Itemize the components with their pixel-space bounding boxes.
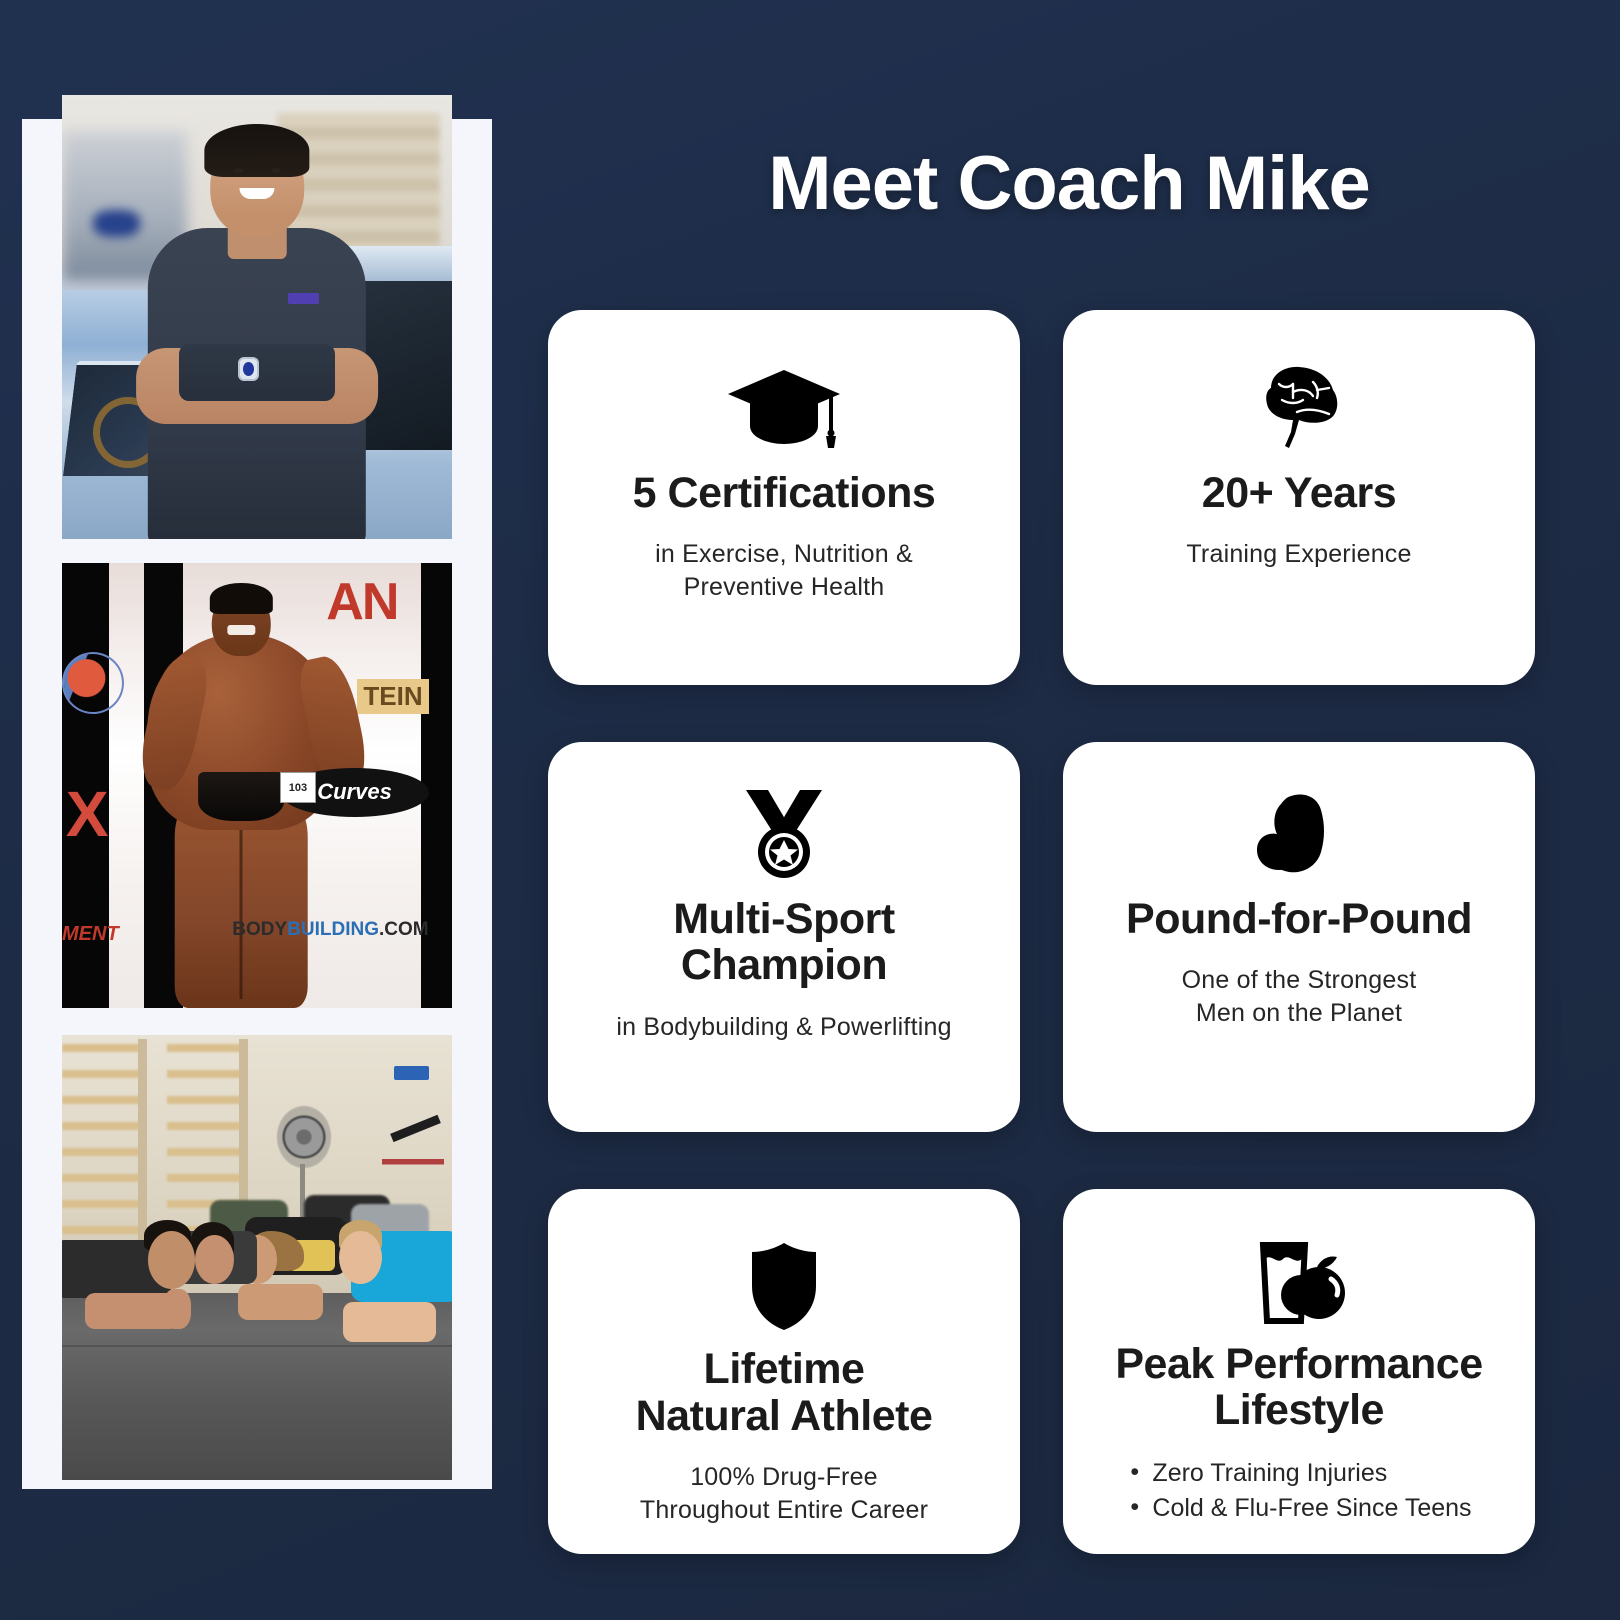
card-experience[interactable]: 20+ Years Training Experience xyxy=(1063,310,1535,685)
bodybuilding-stage-photo: AN TEIN X MENT Curves 103 BODYBUILDING.C… xyxy=(62,563,452,1008)
photo3-gym-fan xyxy=(277,1106,332,1168)
coach-portrait-by-car-photo xyxy=(62,95,452,539)
photo1-person-eye-right xyxy=(271,168,281,173)
card-subtitle: Training Experience xyxy=(1186,538,1411,571)
photo3-person-2-head xyxy=(195,1235,234,1284)
card-title: Lifetime Natural Athlete xyxy=(636,1346,933,1439)
photo3-person-3-forearm xyxy=(238,1284,324,1320)
photo2-athlete-smile xyxy=(228,625,255,635)
card-title: Peak Performance Lifestyle xyxy=(1115,1341,1482,1434)
card-pound-for-pound[interactable]: Pound-for-Pound One of the Strongest Men… xyxy=(1063,742,1535,1132)
list-item: Zero Training Injuries xyxy=(1126,1456,1471,1492)
water-glass-apple-icon xyxy=(1247,1239,1351,1327)
photo2-competitor-number: 103 xyxy=(280,772,315,803)
card-subtitle: One of the Strongest Men on the Planet xyxy=(1182,964,1417,1029)
photo1-shirt-logo xyxy=(288,293,319,305)
photo3-wall-bars-left xyxy=(62,1044,140,1267)
photo1-wristwatch xyxy=(238,357,259,381)
card-subtitle: in Bodybuilding & Powerlifting xyxy=(616,1011,951,1044)
photo2-athlete-leg-split xyxy=(240,812,243,999)
page-title: Meet Coach Mike xyxy=(548,140,1590,227)
photo2-banner-text-went: MENT xyxy=(62,923,119,946)
photo1-blue-object xyxy=(93,210,140,237)
credentials-card-grid: 5 Certifications in Exercise, Nutrition … xyxy=(548,310,1590,1554)
shield-icon xyxy=(748,1239,820,1332)
card-natural-athlete[interactable]: Lifetime Natural Athlete 100% Drug-Free … xyxy=(548,1189,1020,1554)
card-champion[interactable]: Multi-Sport Champion in Bodybuilding & P… xyxy=(548,742,1020,1132)
photo2-banner-text-tein: TEIN xyxy=(357,679,428,714)
card-title: 5 Certifications xyxy=(633,470,936,516)
card-title: Multi-Sport Champion xyxy=(673,896,894,989)
infographic-canvas: AN TEIN X MENT Curves 103 BODYBUILDING.C… xyxy=(0,0,1620,1620)
photo3-person-1-head xyxy=(148,1231,195,1289)
photo3-blue-wall-tag xyxy=(394,1066,429,1080)
card-title: 20+ Years xyxy=(1202,470,1396,516)
photo1-person-eye-left xyxy=(234,168,244,173)
graduation-cap-icon xyxy=(725,360,843,456)
photo2-banner-text-an: AN xyxy=(326,572,397,632)
photo2-banner-text-x: X xyxy=(66,777,106,851)
card-bullet-list: Zero Training Injuries Cold & Flu-Free S… xyxy=(1126,1456,1471,1527)
photo1-person-hair xyxy=(204,124,309,177)
group-plank-training-photo xyxy=(62,1035,452,1480)
list-item: Cold & Flu-Free Since Teens xyxy=(1126,1491,1471,1527)
photo2-banner-text-bodybuilding: BODYBUILDING.COM xyxy=(232,919,428,941)
photo-stack: AN TEIN X MENT Curves 103 BODYBUILDING.C… xyxy=(62,95,452,1480)
photo3-floor-seam xyxy=(62,1345,452,1347)
brain-icon xyxy=(1249,360,1349,456)
medal-icon xyxy=(734,786,834,882)
photo1-person-smile xyxy=(239,188,274,199)
card-subtitle: in Exercise, Nutrition & Preventive Heal… xyxy=(655,538,913,603)
flexed-bicep-icon xyxy=(1251,786,1347,882)
card-certifications[interactable]: 5 Certifications in Exercise, Nutrition … xyxy=(548,310,1020,685)
photo2-athlete-hair xyxy=(210,583,272,614)
card-peak-performance[interactable]: Peak Performance Lifestyle Zero Training… xyxy=(1063,1189,1535,1554)
photo2-athlete-trunks xyxy=(198,772,284,821)
photo3-person-4-forearm xyxy=(343,1302,437,1342)
card-subtitle: 100% Drug-Free Throughout Entire Career xyxy=(640,1461,928,1526)
card-title: Pound-for-Pound xyxy=(1126,896,1472,942)
photo3-person-1-fist xyxy=(163,1289,190,1329)
photo3-person-4-head xyxy=(339,1231,382,1284)
